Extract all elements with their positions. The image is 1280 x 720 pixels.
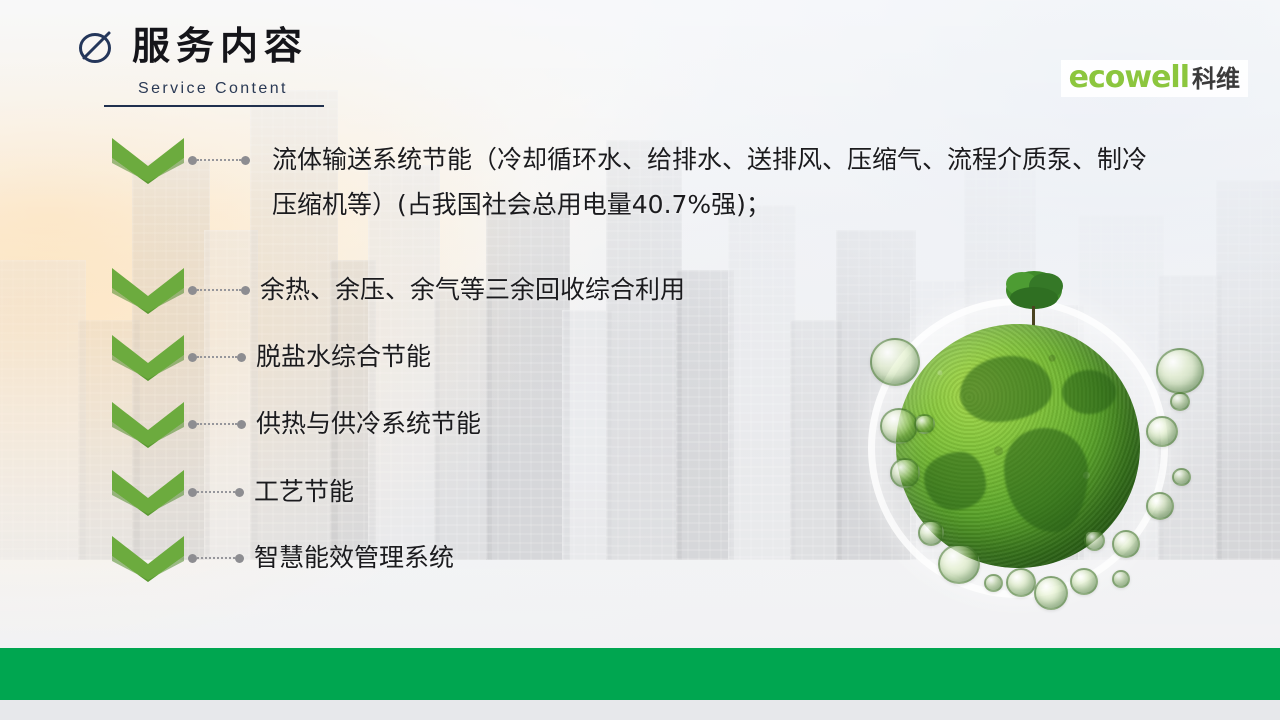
logo-latin-text: ecowell: [1069, 63, 1189, 93]
green-chevron-icon: [112, 333, 184, 381]
list-item-label: 脱盐水综合节能: [256, 335, 431, 380]
water-bubble: [1034, 576, 1068, 610]
footer-below-strip: [0, 700, 1280, 720]
water-bubble: [1156, 348, 1204, 394]
connector-line: [188, 266, 250, 314]
title-underline: [104, 105, 324, 107]
list-item[interactable]: 智慧能效管理系统: [112, 534, 454, 582]
list-item-label: 流体输送系统节能（冷却循环水、给排水、送排风、压缩气、流程介质泵、制冷 压缩机等…: [272, 138, 1280, 227]
water-bubble: [1112, 570, 1130, 588]
water-bubble: [1112, 530, 1140, 558]
water-bubble: [1070, 568, 1098, 595]
list-item[interactable]: 余热、余压、余气等三余回收综合利用: [112, 266, 685, 314]
list-item-label: 智慧能效管理系统: [254, 536, 454, 581]
list-item[interactable]: 工艺节能: [112, 468, 354, 516]
water-bubble: [1170, 392, 1190, 411]
water-bubble: [1146, 492, 1174, 520]
page-title: 服务内容: [132, 27, 308, 65]
eco-globe-graphic: [858, 262, 1228, 642]
page-title-block: 服务内容 Service Content: [78, 26, 324, 107]
water-bubble: [984, 574, 1003, 592]
water-bubble: [890, 458, 920, 488]
water-bubble: [1084, 530, 1105, 551]
slashed-circle-icon: [78, 26, 116, 66]
footer-green-bar: [0, 648, 1280, 700]
water-bubble: [918, 520, 944, 546]
water-bubble: [938, 544, 980, 584]
water-bubble: [914, 414, 935, 434]
list-item[interactable]: 流体输送系统节能（冷却循环水、给排水、送排风、压缩气、流程介质泵、制冷 压缩机等…: [112, 136, 1280, 227]
slide-canvas: 服务内容 Service Content ecowell 科维 流体输送系统节能…: [0, 0, 1280, 720]
continent-shape: [960, 356, 1052, 422]
water-bubble: [1172, 468, 1191, 486]
list-item[interactable]: 供热与供冷系统节能: [112, 400, 481, 448]
page-subtitle: Service Content: [138, 80, 324, 98]
water-bubble: [1146, 416, 1178, 447]
connector-line: [188, 136, 250, 184]
green-chevron-icon: [112, 468, 184, 516]
water-bubble: [880, 408, 918, 444]
water-bubble: [1006, 568, 1036, 597]
connector-line: [188, 333, 246, 381]
continent-shape: [1062, 370, 1116, 414]
list-item-label: 供热与供冷系统节能: [256, 402, 481, 447]
list-item[interactable]: 脱盐水综合节能: [112, 333, 431, 381]
connector-line: [188, 468, 244, 516]
continent-shape: [924, 452, 986, 510]
list-item-label: 工艺节能: [254, 470, 354, 515]
water-bubble: [870, 338, 920, 386]
logo-chinese-text: 科维: [1192, 67, 1240, 91]
green-chevron-icon: [112, 400, 184, 448]
green-chevron-icon: [112, 534, 184, 582]
green-chevron-icon: [112, 266, 184, 314]
connector-line: [188, 400, 246, 448]
continent-shape: [1004, 428, 1088, 532]
list-item-label: 余热、余压、余气等三余回收综合利用: [260, 268, 685, 313]
brand-logo: ecowell 科维: [1061, 60, 1248, 97]
green-chevron-icon: [112, 136, 184, 184]
connector-line: [188, 534, 244, 582]
